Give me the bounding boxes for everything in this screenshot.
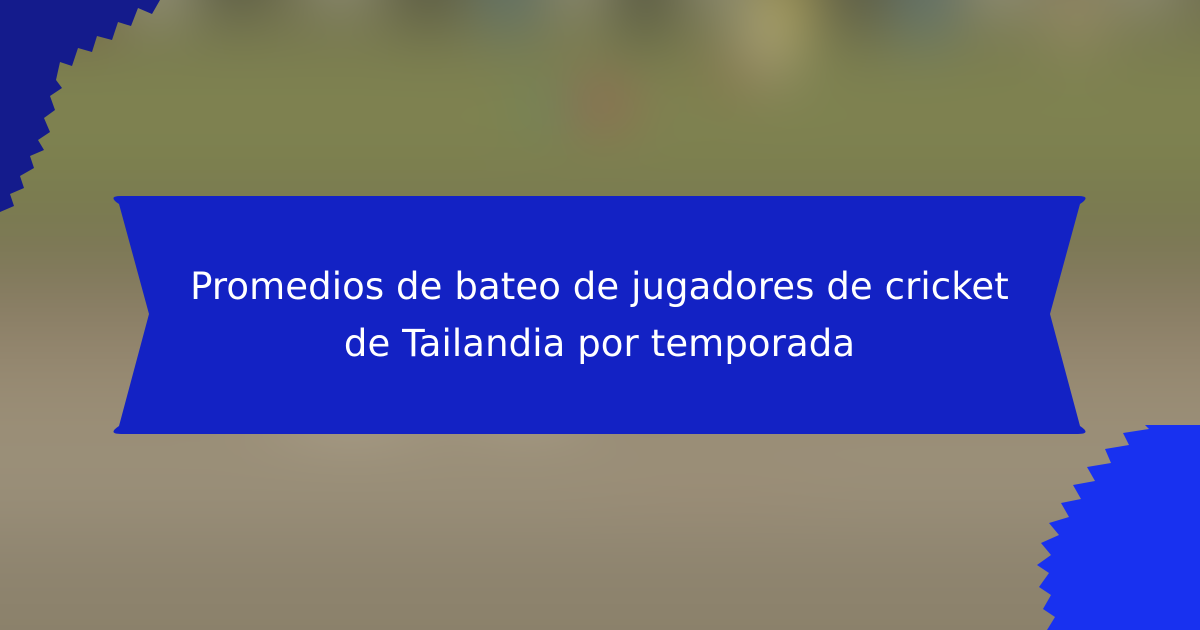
title-line-1: Promedios de bateo de jugadores de crick… xyxy=(190,263,1009,310)
title-line-2: de Tailandia por temporada xyxy=(344,320,855,367)
banner-ribbon: Promedios de bateo de jugadores de crick… xyxy=(107,196,1092,434)
share-card: Promedios de bateo de jugadores de crick… xyxy=(0,0,1200,630)
banner-title: Promedios de bateo de jugadores de crick… xyxy=(167,196,1032,434)
